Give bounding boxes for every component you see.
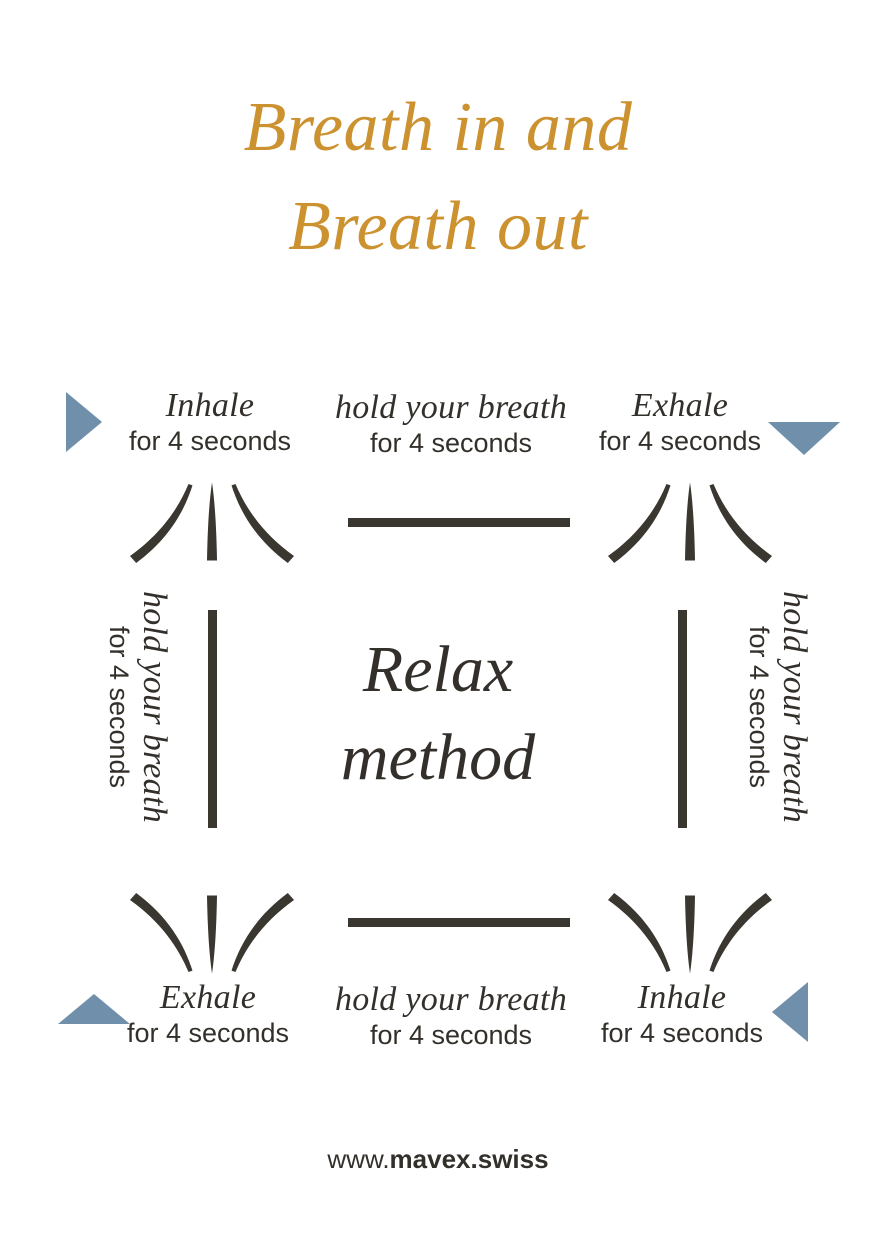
step-title-bottom-left: Exhale (88, 980, 328, 1017)
step-title-bottom-center: hold your breath (312, 982, 590, 1019)
footer-website[interactable]: www.mavex.swiss (0, 1144, 876, 1175)
fan-ornament-top-right (604, 482, 776, 564)
breathing-infographic-poster: Breath in and Breath out Inhale for 4 se… (0, 0, 876, 1243)
step-label-bottom-left: Exhale for 4 seconds (88, 980, 328, 1050)
footer-url-prefix: www. (327, 1144, 389, 1174)
step-label-bottom-center: hold your breath for 4 seconds (312, 982, 590, 1052)
horizontal-bar-bottom (348, 918, 570, 927)
step-title-top-right: Exhale (570, 388, 790, 425)
step-duration-top-left: for 4 seconds (90, 425, 330, 458)
step-duration-right: for 4 seconds (742, 582, 775, 832)
step-title-top-left: Inhale (90, 388, 330, 425)
center-wordmark-line-1: Relax (263, 626, 613, 714)
step-duration-top-center: for 4 seconds (312, 427, 590, 460)
step-duration-bottom-left: for 4 seconds (88, 1017, 328, 1050)
step-label-left: hold your breath for 4 seconds (102, 582, 172, 832)
horizontal-bar-top (348, 518, 570, 527)
footer-url-domain: mavex.swiss (390, 1144, 549, 1174)
step-label-bottom-right: Inhale for 4 seconds (572, 980, 792, 1050)
step-duration-top-right: for 4 seconds (570, 425, 790, 458)
step-duration-bottom-center: for 4 seconds (312, 1019, 590, 1052)
page-title: Breath in and Breath out (0, 78, 876, 277)
fan-ornament-bottom-left (126, 892, 298, 974)
step-title-left: hold your breath (135, 582, 172, 832)
step-title-right: hold your breath (775, 582, 812, 832)
step-label-top-left: Inhale for 4 seconds (90, 388, 330, 458)
page-title-line-2: Breath out (0, 177, 876, 276)
page-title-line-1: Breath in and (0, 78, 876, 177)
step-label-top-center: hold your breath for 4 seconds (312, 390, 590, 460)
vertical-bar-left (208, 610, 217, 828)
fan-ornament-top-left (126, 482, 298, 564)
step-title-bottom-right: Inhale (572, 980, 792, 1017)
step-label-top-right: Exhale for 4 seconds (570, 388, 790, 458)
step-title-top-center: hold your breath (312, 390, 590, 427)
step-duration-left: for 4 seconds (102, 582, 135, 832)
step-duration-bottom-right: for 4 seconds (572, 1017, 792, 1050)
vertical-bar-right (678, 610, 687, 828)
center-wordmark: Relax method (263, 626, 613, 802)
fan-ornament-bottom-right (604, 892, 776, 974)
center-wordmark-line-2: method (263, 714, 613, 802)
step-label-right: hold your breath for 4 seconds (742, 582, 812, 832)
triangle-down-icon (768, 422, 840, 455)
triangle-left-icon (772, 982, 808, 1042)
